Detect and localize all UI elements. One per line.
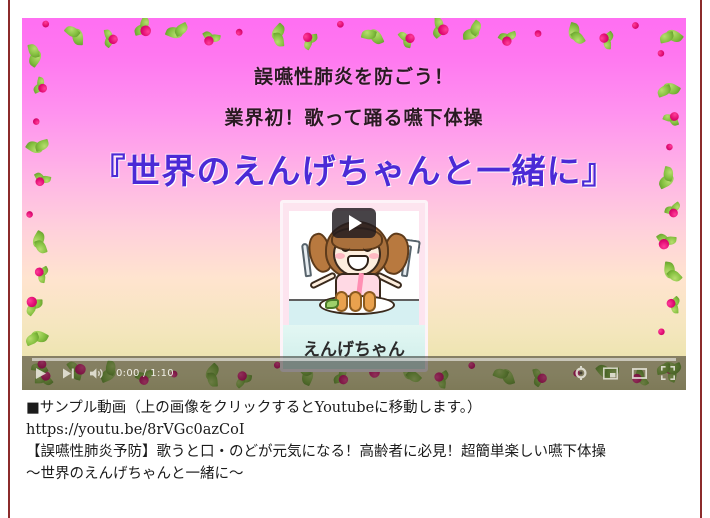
food-item	[349, 291, 362, 312]
video-url-line[interactable]: https://youtu.be/8rVGc0azCoI	[26, 419, 666, 441]
arm-left	[309, 271, 337, 290]
play-overlay-button[interactable]	[332, 208, 376, 238]
video-embed[interactable]: 誤嚥性肺炎を防ごう！ 業界初！歌って踊る嚥下体操 『世界のえんげちゃんと一緒に』	[22, 18, 686, 390]
progress-bar[interactable]	[32, 358, 676, 361]
next-track-icon[interactable]	[60, 365, 76, 381]
miniplayer-icon[interactable]	[602, 365, 618, 381]
page-rule-left	[8, 0, 10, 518]
gear-icon[interactable]	[573, 365, 589, 381]
vegetable-garnish	[325, 299, 339, 309]
description-line-1: ■サンプル動画（上の画像をクリックするとYoutubeに移動します。）	[26, 397, 666, 419]
cheek-right	[369, 253, 379, 259]
food-item	[363, 291, 376, 312]
fullscreen-icon[interactable]	[660, 365, 676, 381]
headline-line-1: 誤嚥性肺炎を防ごう！	[22, 62, 686, 89]
page-rule-right	[700, 0, 702, 518]
volume-icon[interactable]	[88, 365, 104, 381]
description-block: ■サンプル動画（上の画像をクリックするとYoutubeに移動します。） http…	[26, 397, 666, 485]
headline-line-2: 業界初！歌って踊る嚥下体操	[22, 103, 686, 130]
play-icon[interactable]	[32, 365, 48, 381]
poster-main-title: 『世界のえんげちゃんと一緒に』	[22, 144, 686, 193]
play-triangle-icon	[349, 215, 362, 231]
player-controls-right	[573, 365, 676, 381]
time-display: 0:00 / 1:10	[116, 368, 174, 379]
player-controls-left: 0:00 / 1:10	[32, 365, 174, 381]
theater-mode-icon[interactable]	[631, 365, 647, 381]
poster-headline: 誤嚥性肺炎を防ごう！ 業界初！歌って踊る嚥下体操	[22, 62, 686, 130]
description-line-3: 【誤嚥性肺炎予防】歌うと口・のどが元気になる！高齢者に必見！超簡単楽しい嚥下体操	[26, 441, 666, 463]
cheek-left	[335, 253, 345, 259]
player-control-bar: 0:00 / 1:10	[22, 356, 686, 390]
description-line-4: 〜世界のえんげちゃんと一緒に〜	[26, 463, 666, 485]
